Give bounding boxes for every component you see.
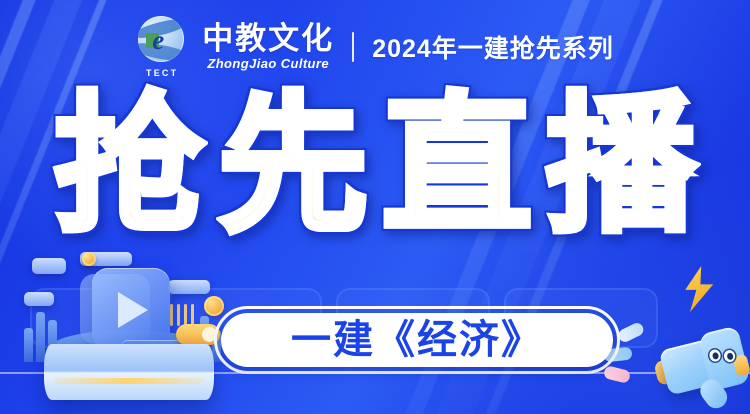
logo-tect-label: TECT — [136, 68, 188, 78]
megaphone-icon — [643, 321, 750, 414]
banner-header: e TECT 中教文化 ZhongJiao Culture 2024年一建抢先系… — [0, 14, 750, 80]
globe-e-icon: e — [138, 16, 184, 62]
headline-char: 抢 — [54, 91, 204, 241]
gold-coin — [204, 296, 224, 316]
chart-bar — [36, 312, 45, 362]
logo-letter-e: e — [152, 27, 164, 54]
floating-chip — [32, 258, 66, 274]
course-pill-label: 一建《经济》 — [291, 320, 543, 360]
vertical-divider-icon — [352, 32, 354, 62]
gold-coin — [82, 252, 96, 266]
play-icon — [118, 292, 148, 328]
tick-lines-decoration — [170, 304, 196, 326]
lightning-bolt-icon — [678, 266, 718, 312]
brand-name-en: ZhongJiao Culture — [202, 56, 334, 71]
megaphone-3d-scene — [600, 248, 750, 414]
headline-char: 播 — [546, 91, 696, 241]
course-pill-inner: 一建《经济》 — [221, 313, 613, 367]
sound-ray — [603, 365, 631, 384]
headline-char: 直 — [382, 91, 532, 241]
series-subtitle: 2024年一建抢先系列 — [372, 29, 614, 65]
headline-char: 先 — [218, 91, 368, 241]
play-button-card — [92, 268, 170, 350]
course-pill[interactable]: 一建《经济》 — [214, 306, 620, 374]
floating-chip — [24, 292, 54, 306]
brand-name-cn: 中教文化 — [202, 23, 334, 56]
main-headline: 抢 先 直 播 — [0, 86, 750, 246]
floating-chip — [168, 280, 210, 294]
live-stream-3d-scene — [18, 252, 248, 414]
brand-name-block: 中教文化 ZhongJiao Culture — [202, 23, 334, 72]
chart-bar — [24, 328, 33, 362]
sound-ray — [616, 321, 645, 344]
podium-gold-edge — [54, 378, 204, 384]
podium-platform — [44, 344, 214, 400]
brand-logo-mark: e TECT — [136, 16, 188, 78]
promotional-banner: e TECT 中教文化 ZhongJiao Culture 2024年一建抢先系… — [0, 0, 750, 414]
